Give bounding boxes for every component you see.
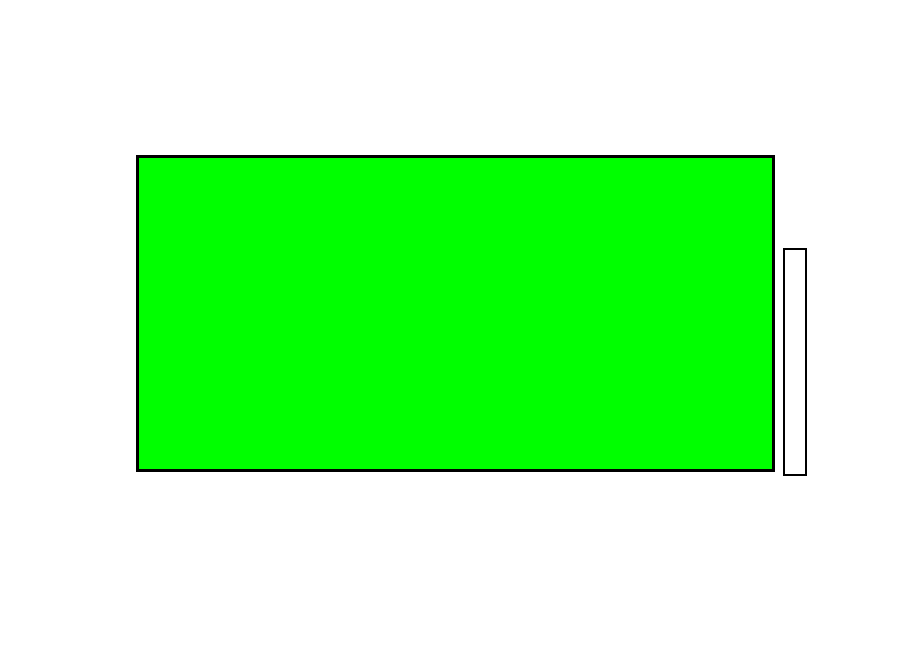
- figure-root: [0, 0, 904, 654]
- colorbar: [783, 203, 807, 521]
- colorbar-gradient: [783, 248, 807, 476]
- scalar-field-canvas: [139, 158, 772, 469]
- contour-plot-area: [136, 155, 775, 472]
